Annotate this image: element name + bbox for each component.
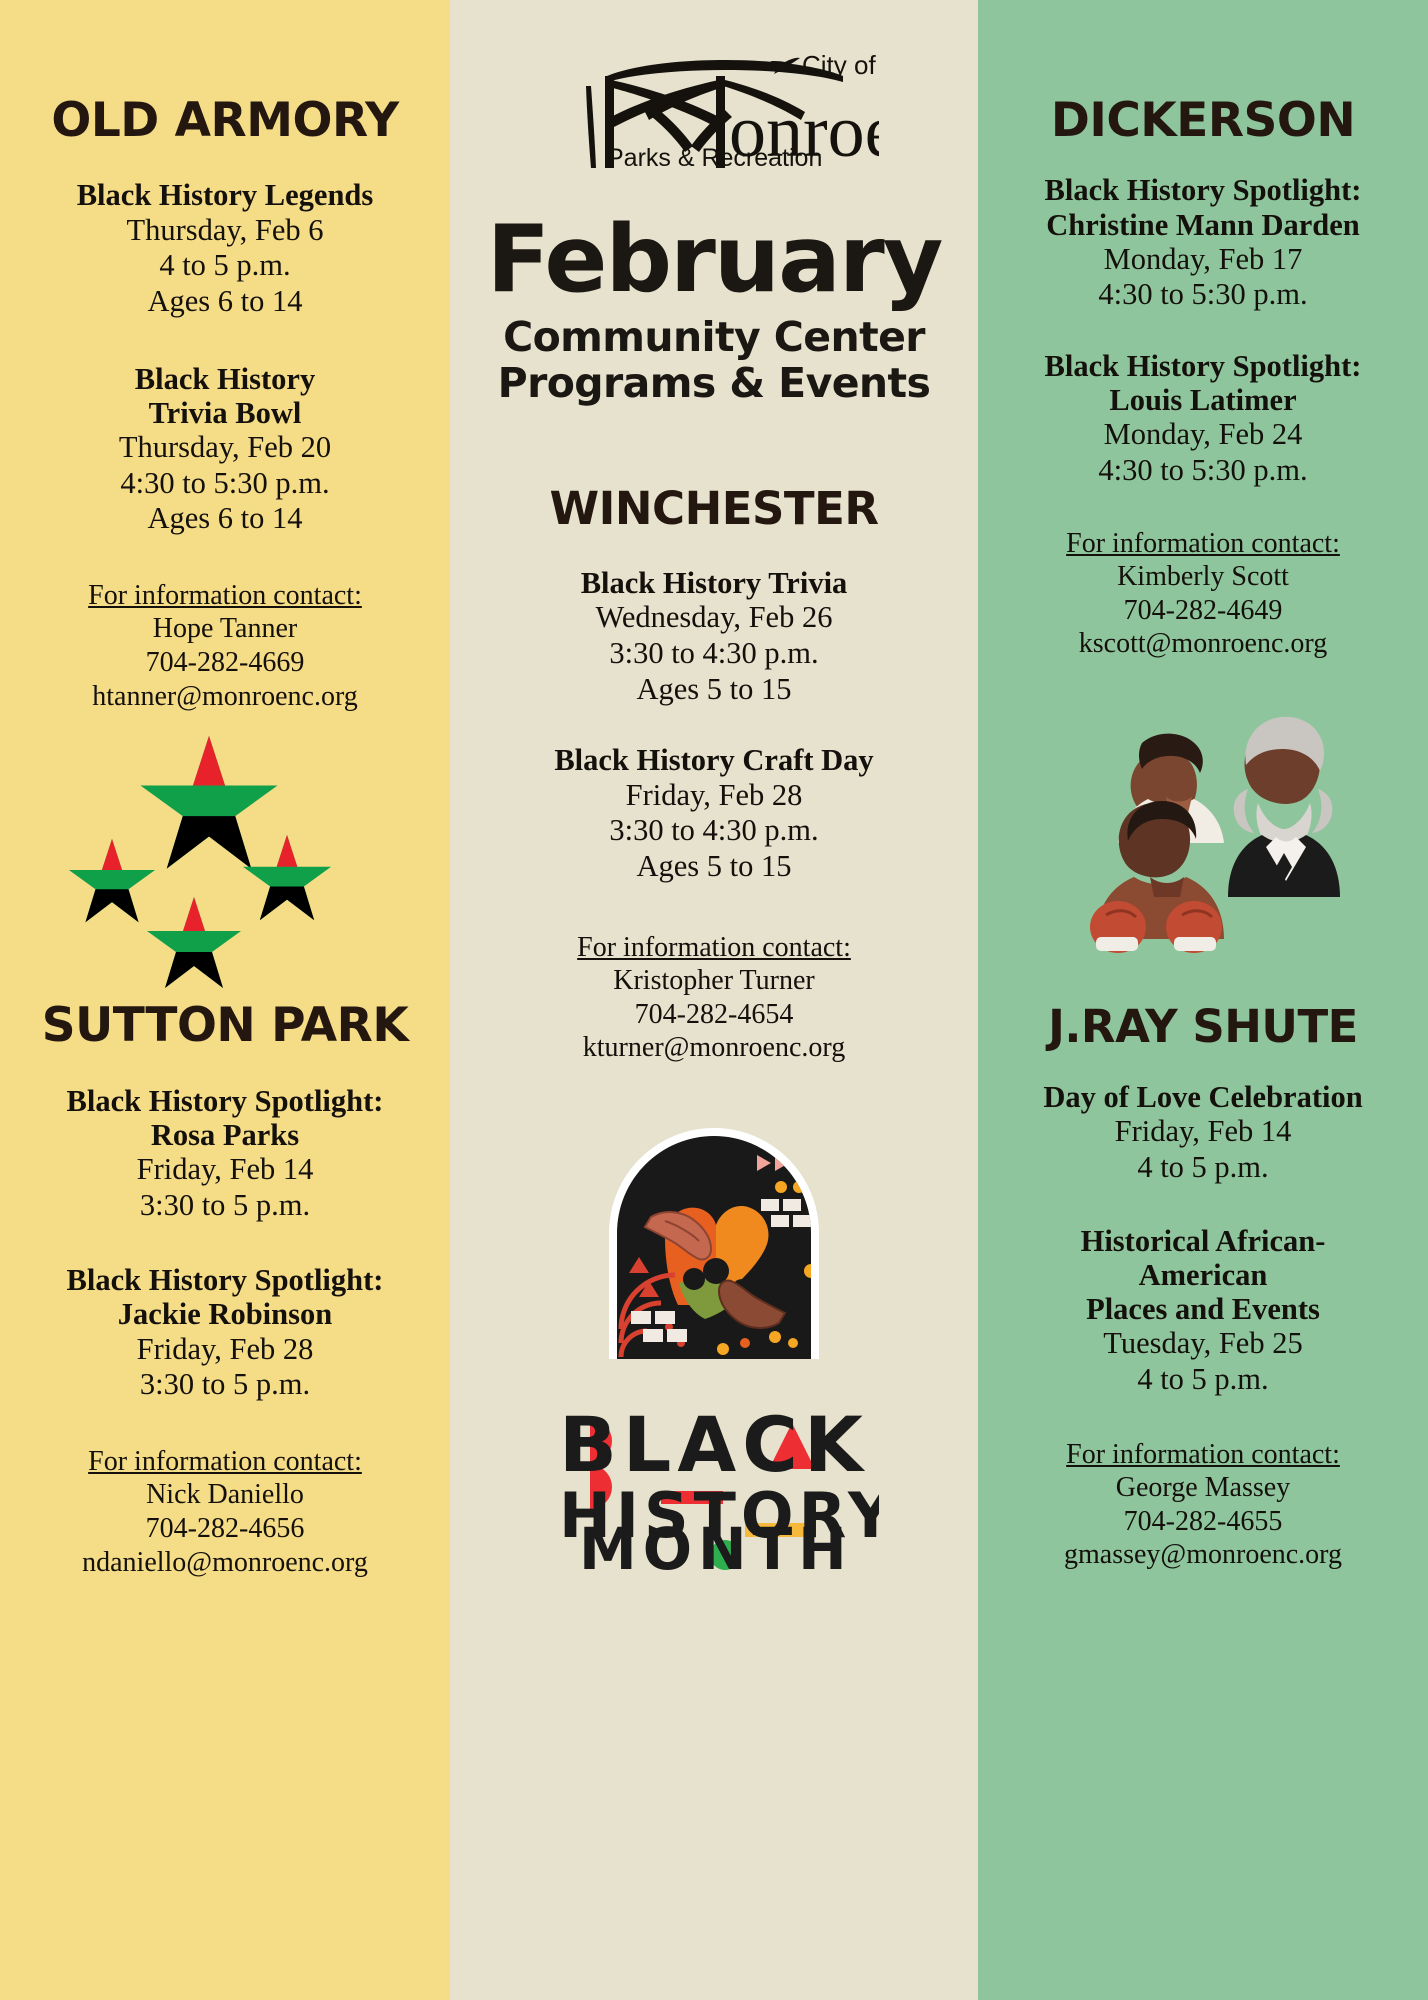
event-time: 4 to 5 p.m. xyxy=(18,248,432,284)
contact-phone[interactable]: 704-282-4656 xyxy=(18,1512,432,1546)
event-title-line2: Christine Mann Darden xyxy=(996,208,1410,242)
event-ages: Ages 5 to 15 xyxy=(472,672,956,708)
page-title-month: February xyxy=(472,214,956,305)
contact-header: For information contact: xyxy=(472,931,956,965)
historical-figures-portraits xyxy=(996,685,1410,957)
event-block: Black History Spotlight: Jackie Robinson… xyxy=(18,1263,432,1403)
event-block: Day of Love Celebration Friday, Feb 14 4… xyxy=(996,1080,1410,1186)
event-date: Thursday, Feb 6 xyxy=(18,213,432,249)
event-ages: Ages 6 to 14 xyxy=(18,284,432,320)
event-title: Black History Craft Day xyxy=(472,743,956,777)
event-block: Black History Trivia Bowl Thursday, Feb … xyxy=(18,362,432,537)
event-time: 3:30 to 4:30 p.m. xyxy=(472,636,956,672)
event-time: 3:30 to 5 p.m. xyxy=(18,1367,432,1403)
svg-text:Parks & Recreation: Parks & Recreation xyxy=(607,144,822,168)
contact-block: For information contact: Kimberly Scott … xyxy=(996,527,1410,661)
event-time: 3:30 to 5 p.m. xyxy=(18,1188,432,1224)
event-block: Black History Legends Thursday, Feb 6 4 … xyxy=(18,178,432,319)
left-column: OLD ARMORY Black History Legends Thursda… xyxy=(0,0,450,2000)
contact-email[interactable]: kturner@monroenc.org xyxy=(472,1031,956,1065)
contact-phone[interactable]: 704-282-4649 xyxy=(996,594,1410,628)
center-column: City of onroe Parks & Recreation Februar… xyxy=(450,0,978,2000)
event-date: Thursday, Feb 20 xyxy=(18,430,432,466)
event-block: Black History Craft Day Friday, Feb 28 3… xyxy=(472,743,956,884)
event-title-line3: Places and Events xyxy=(996,1292,1410,1326)
event-time: 4 to 5 p.m. xyxy=(996,1150,1410,1186)
contact-header: For information contact: xyxy=(996,527,1410,561)
event-time: 3:30 to 4:30 p.m. xyxy=(472,813,956,849)
event-title-line2: Louis Latimer xyxy=(996,383,1410,417)
event-date: Monday, Feb 17 xyxy=(996,242,1410,278)
contact-header: For information contact: xyxy=(18,579,432,613)
page-subtitle-line2: Programs & Events xyxy=(472,361,956,407)
venue-title-sutton-park: SUTTON PARK xyxy=(18,1001,432,1050)
page-subtitle-line1: Community Center xyxy=(472,315,956,361)
event-ages: Ages 6 to 14 xyxy=(18,501,432,537)
event-block: Historical African- American Places and … xyxy=(996,1224,1410,1398)
event-date: Tuesday, Feb 25 xyxy=(996,1326,1410,1362)
star-icon xyxy=(144,895,244,991)
venue-title-jray-shute: J.RAY SHUTE xyxy=(996,1003,1410,1050)
monroe-parks-recreation-logo: City of onroe Parks & Recreation xyxy=(472,40,956,168)
contact-email[interactable]: kscott@monroenc.org xyxy=(996,627,1410,661)
event-block: Black History Trivia Wednesday, Feb 26 3… xyxy=(472,566,956,707)
svg-text:City of: City of xyxy=(802,50,876,80)
contact-name: Kimberly Scott xyxy=(996,560,1410,594)
event-time: 4:30 to 5:30 p.m. xyxy=(18,466,432,502)
black-history-month-illustration xyxy=(472,1121,956,1359)
event-title: Black History Spotlight: xyxy=(996,173,1410,207)
event-date: Friday, Feb 28 xyxy=(472,778,956,814)
event-time: 4 to 5 p.m. xyxy=(996,1362,1410,1398)
contact-email[interactable]: htanner@monroenc.org xyxy=(18,680,432,714)
pan-african-stars-decoration xyxy=(18,741,432,1001)
event-title-line2: Trivia Bowl xyxy=(18,396,432,430)
venue-title-old-armory: OLD ARMORY xyxy=(18,96,432,145)
flyer-poster: OLD ARMORY Black History Legends Thursda… xyxy=(0,0,1428,2000)
event-block: Black History Spotlight: Rosa Parks Frid… xyxy=(18,1084,432,1224)
event-date: Friday, Feb 28 xyxy=(18,1332,432,1368)
event-title-line2: American xyxy=(996,1258,1410,1292)
event-ages: Ages 5 to 15 xyxy=(472,849,956,885)
contact-block: For information contact: Hope Tanner 704… xyxy=(18,579,432,713)
event-title-line2: Rosa Parks xyxy=(18,1118,432,1152)
event-title: Black History Spotlight: xyxy=(18,1084,432,1118)
event-title: Historical African- xyxy=(996,1224,1410,1258)
event-title: Black History Trivia xyxy=(472,566,956,600)
svg-text:MONTH: MONTH xyxy=(579,1515,853,1573)
black-history-month-wordmark: BLACK HISTORY MONTH xyxy=(472,1373,956,1573)
event-date: Wednesday, Feb 26 xyxy=(472,600,956,636)
contact-block: For information contact: George Massey 7… xyxy=(996,1438,1410,1572)
venue-title-winchester: WINCHESTER xyxy=(472,485,956,532)
contact-name: Hope Tanner xyxy=(18,612,432,646)
svg-text:BLACK: BLACK xyxy=(559,1400,869,1489)
contact-phone[interactable]: 704-282-4654 xyxy=(472,998,956,1032)
contact-phone[interactable]: 704-282-4655 xyxy=(996,1505,1410,1539)
contact-email[interactable]: ndaniello@monroenc.org xyxy=(18,1546,432,1580)
event-title: Black History Spotlight: xyxy=(18,1263,432,1297)
contact-block: For information contact: Kristopher Turn… xyxy=(472,931,956,1065)
event-block: Black History Spotlight: Christine Mann … xyxy=(996,173,1410,313)
contact-header: For information contact: xyxy=(18,1445,432,1479)
star-icon xyxy=(240,833,334,923)
event-block: Black History Spotlight: Louis Latimer M… xyxy=(996,349,1410,489)
event-time: 4:30 to 5:30 p.m. xyxy=(996,453,1410,489)
contact-header: For information contact: xyxy=(996,1438,1410,1472)
event-title: Black History Spotlight: xyxy=(996,349,1410,383)
contact-email[interactable]: gmassey@monroenc.org xyxy=(996,1538,1410,1572)
event-date: Friday, Feb 14 xyxy=(996,1114,1410,1150)
right-column: DICKERSON Black History Spotlight: Chris… xyxy=(978,0,1428,2000)
event-title: Day of Love Celebration xyxy=(996,1080,1410,1114)
contact-name: George Massey xyxy=(996,1471,1410,1505)
event-title: Black History Legends xyxy=(18,178,432,212)
event-title-line2: Jackie Robinson xyxy=(18,1297,432,1331)
contact-name: Kristopher Turner xyxy=(472,964,956,998)
contact-name: Nick Daniello xyxy=(18,1478,432,1512)
venue-title-dickerson: DICKERSON xyxy=(996,96,1410,145)
contact-phone[interactable]: 704-282-4669 xyxy=(18,646,432,680)
event-time: 4:30 to 5:30 p.m. xyxy=(996,277,1410,313)
contact-block: For information contact: Nick Daniello 7… xyxy=(18,1445,432,1579)
event-title: Black History xyxy=(18,362,432,396)
event-date: Friday, Feb 14 xyxy=(18,1152,432,1188)
portrait-frederick-douglass xyxy=(1228,717,1340,897)
event-date: Monday, Feb 24 xyxy=(996,417,1410,453)
